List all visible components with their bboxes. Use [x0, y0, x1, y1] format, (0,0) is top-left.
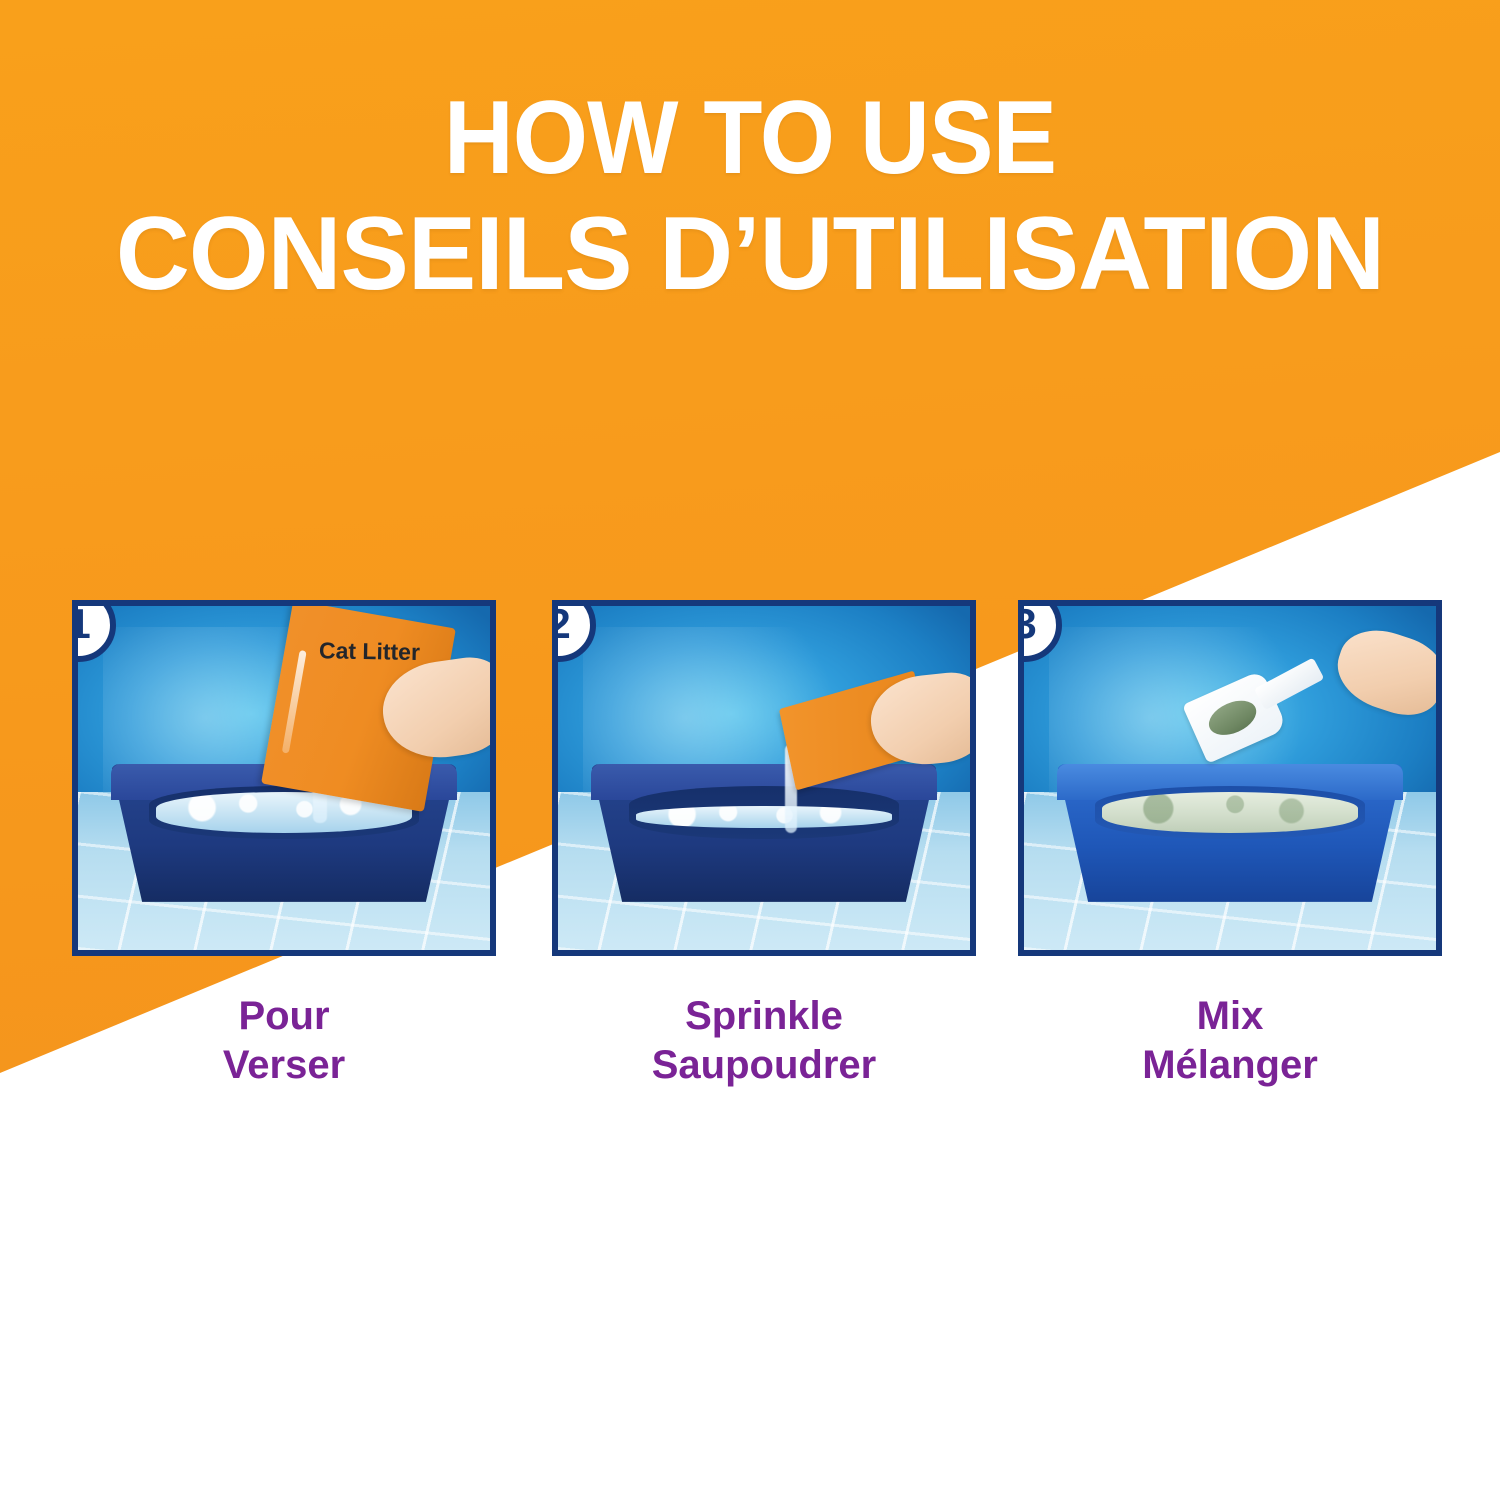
step-3-image: 3 — [1018, 600, 1442, 956]
steps-row: Cat Litter 1 Pour Verser — [0, 600, 1500, 1120]
bathroom-scene — [558, 606, 970, 950]
step-1: Cat Litter 1 Pour Verser — [72, 600, 496, 1090]
step-2: 2 Sprinkle Saupoudrer — [552, 600, 976, 1090]
step-3-caption-en: Mix — [1018, 992, 1442, 1041]
step-2-image: 2 — [552, 600, 976, 956]
title-french: CONSEILS D’UTILISATION — [11, 204, 1489, 306]
how-to-use-infographic: HOW TO USE CONSEILS D’UTILISATION — [0, 0, 1500, 1500]
carton-gloss — [281, 650, 306, 754]
step-2-caption-en: Sprinkle — [552, 992, 976, 1041]
carton-label: Cat Litter — [298, 637, 440, 666]
step-3-number: 3 — [1018, 603, 1037, 645]
step-1-image: Cat Litter 1 — [72, 600, 496, 956]
step-1-caption-fr: Verser — [72, 1041, 496, 1090]
litter-tray — [591, 764, 937, 902]
step-1-number: 1 — [72, 603, 91, 645]
step-1-caption: Pour Verser — [72, 992, 496, 1090]
bathroom-scene — [1024, 606, 1436, 950]
litter-fill — [636, 806, 892, 828]
scoop-contents — [1203, 693, 1261, 741]
title-english: HOW TO USE — [53, 88, 1448, 190]
litter-fill — [1102, 792, 1358, 833]
page-title: HOW TO USE CONSEILS D’UTILISATION — [0, 88, 1500, 306]
step-2-number: 2 — [552, 603, 571, 645]
step-1-caption-en: Pour — [72, 992, 496, 1041]
scoop-handle — [1254, 658, 1325, 711]
step-3-caption-fr: Mélanger — [1018, 1041, 1442, 1090]
step-3-caption: Mix Mélanger — [1018, 992, 1442, 1090]
step-2-caption-fr: Saupoudrer — [552, 1041, 976, 1090]
step-3: 3 Mix Mélanger — [1018, 600, 1442, 1090]
step-2-caption: Sprinkle Saupoudrer — [552, 992, 976, 1090]
bathroom-scene: Cat Litter — [78, 606, 490, 950]
litter-tray — [1057, 764, 1403, 902]
